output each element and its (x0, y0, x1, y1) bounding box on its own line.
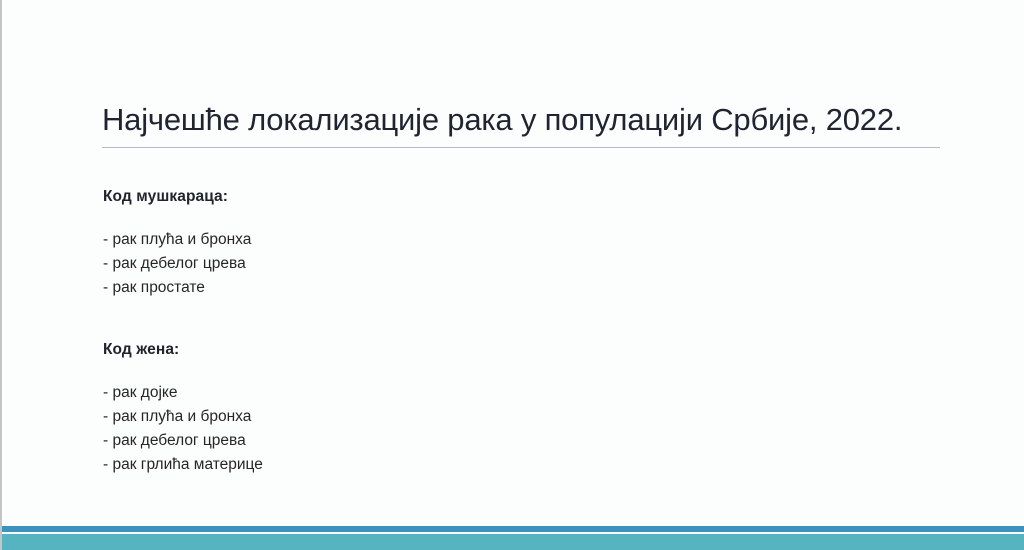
footer-accent-bar-light (2, 534, 1024, 550)
group-men-list: - рак плућа и бронха - рак дебелог црева… (103, 228, 663, 300)
group-men-heading: Код мушкараца: (103, 186, 663, 208)
list-item: - рак простате (103, 276, 305, 300)
slide-canvas: Најчешће локализације рака у популацији … (0, 0, 1024, 550)
group-men: Код мушкараца: - рак плућа и бронха - ра… (103, 186, 663, 300)
group-women: Код жена: - рак дојке - рак плућа и брон… (103, 339, 663, 477)
list-item: - рак плућа и бронха (103, 228, 305, 252)
list-item: - рак грлића материце (103, 453, 663, 477)
group-women-list: - рак дојке - рак плућа и бронха - рак д… (103, 381, 663, 477)
list-item: - рак дебелог црева (103, 252, 305, 276)
list-item: - рак плућа и бронха (103, 405, 663, 429)
slide-body: Код мушкараца: - рак плућа и бронха - ра… (103, 186, 663, 477)
list-item: - рак дојке (103, 381, 663, 405)
title-divider (102, 147, 940, 148)
group-women-heading: Код жена: (103, 339, 663, 361)
list-item: - рак дебелог црева (103, 429, 663, 453)
page-title: Најчешће локализације рака у популацији … (102, 99, 962, 141)
